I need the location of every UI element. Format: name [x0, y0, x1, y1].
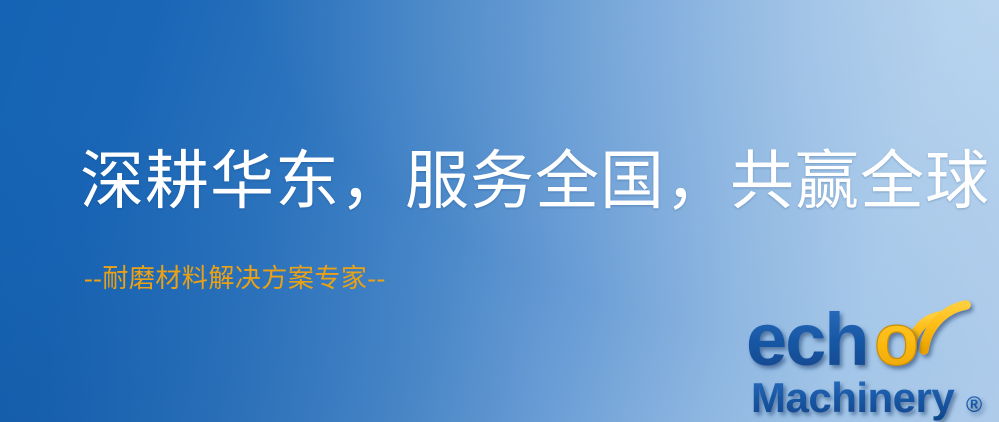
logo-tagline: Machinery [751, 374, 955, 421]
hero-banner: 深耕华东，服务全国，共赢全球 --耐磨材料解决方案专家-- [0, 0, 999, 422]
banner-headline: 深耕华东，服务全国，共赢全球 [80, 150, 990, 214]
echo-machinery-logo[interactable]: ech o Machinery ® [742, 292, 999, 422]
echo-wave-icon [912, 305, 966, 350]
logo-wordmark-gold: o [874, 298, 919, 381]
logo-registered-mark: ® [966, 392, 982, 417]
logo-wordmark-blue: ech [746, 298, 868, 381]
banner-subtitle: --耐磨材料解决方案专家-- [84, 266, 386, 292]
